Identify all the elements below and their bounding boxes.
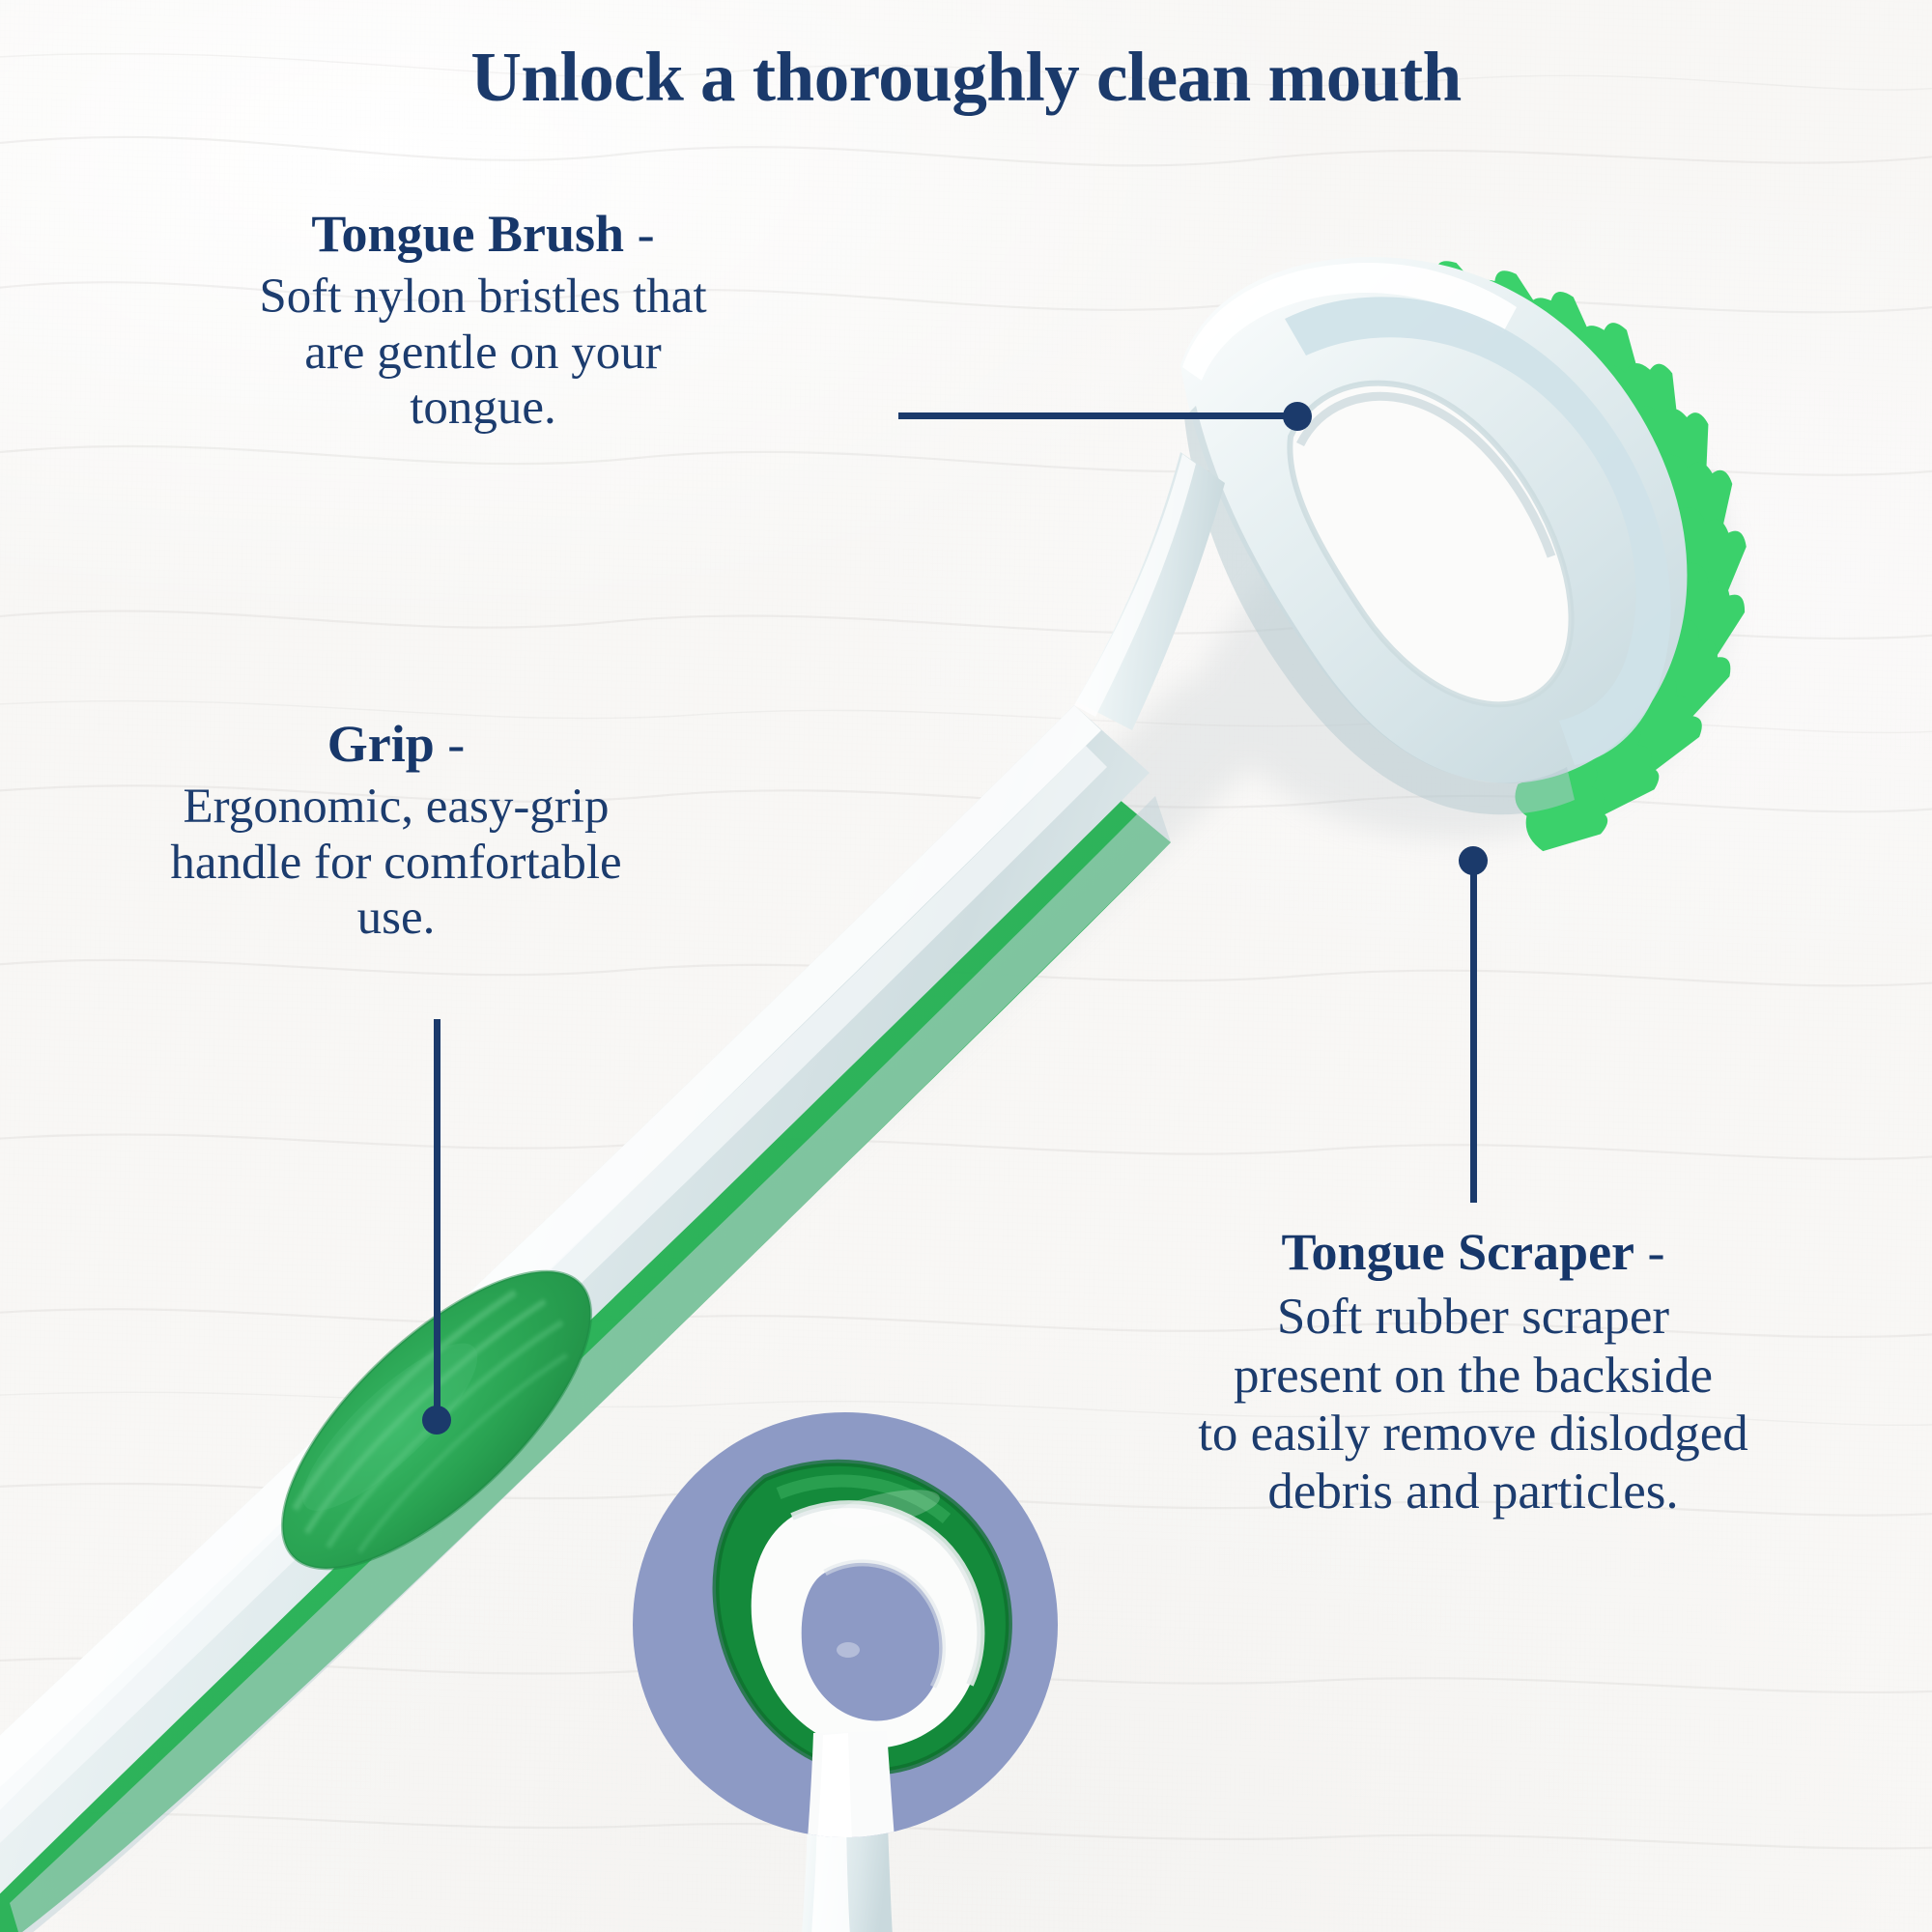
- callout-body-tongue-scraper: Soft rubber scraper present on the backs…: [1058, 1288, 1889, 1521]
- callout-title-text: Grip: [327, 715, 435, 773]
- callout-body-line: debris and particles.: [1267, 1463, 1678, 1520]
- callout-title-dash: -: [624, 205, 654, 263]
- callout-body-line: present on the backside: [1234, 1348, 1713, 1404]
- callout-body-line: Soft rubber scraper: [1277, 1289, 1669, 1345]
- callout-body-line: Soft nylon bristles that: [259, 270, 706, 324]
- infographic-canvas: Unlock a thoroughly clean mouth Tongue B…: [0, 0, 1932, 1932]
- leader-line-tongue-brush: [898, 412, 1296, 419]
- inset-detail-photo: [633, 1412, 1058, 1932]
- callout-body-line: use.: [357, 891, 436, 945]
- callout-title-text: Tongue Scraper: [1281, 1223, 1634, 1281]
- leader-line-grip: [434, 1019, 440, 1425]
- callout-title-grip: Grip -: [39, 717, 753, 772]
- callout-tongue-brush: Tongue Brush - Soft nylon bristles that …: [126, 207, 840, 437]
- callout-body-line: handle for comfortable: [170, 836, 621, 890]
- callout-title-dash: -: [1634, 1223, 1664, 1281]
- callout-title-dash: -: [435, 715, 465, 773]
- callout-grip: Grip - Ergonomic, easy-grip handle for c…: [39, 717, 753, 947]
- leader-dot-grip: [422, 1406, 451, 1435]
- callout-tongue-scraper: Tongue Scraper - Soft rubber scraper pre…: [1058, 1225, 1889, 1521]
- callout-body-line: Ergonomic, easy-grip: [184, 780, 610, 834]
- callout-title-text: Tongue Brush: [311, 205, 624, 263]
- callout-body-line: are gentle on your: [304, 326, 662, 380]
- callout-title-tongue-brush: Tongue Brush -: [126, 207, 840, 262]
- callout-body-line: to easily remove dislodged: [1198, 1406, 1748, 1462]
- callout-body-line: tongue.: [410, 381, 556, 435]
- leader-dot-tongue-brush: [1283, 402, 1312, 431]
- leader-line-tongue-scraper: [1470, 860, 1477, 1203]
- callout-body-tongue-brush: Soft nylon bristles that are gentle on y…: [126, 270, 840, 437]
- callout-body-grip: Ergonomic, easy-grip handle for comforta…: [39, 780, 753, 947]
- leader-dot-tongue-scraper: [1459, 846, 1488, 875]
- callout-title-tongue-scraper: Tongue Scraper -: [1058, 1225, 1889, 1280]
- page-title: Unlock a thoroughly clean mouth: [0, 37, 1932, 118]
